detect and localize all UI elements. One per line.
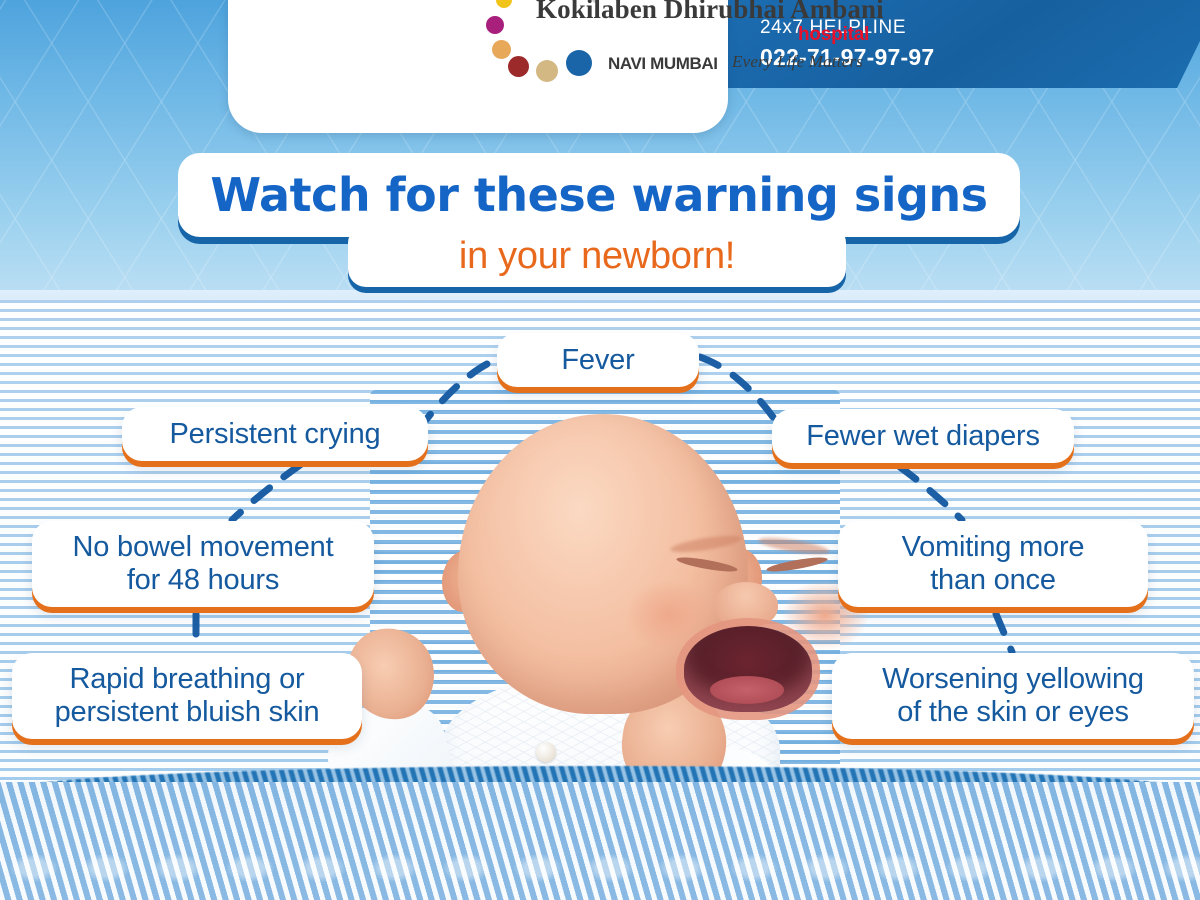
callout-label-line1: Vomiting more xyxy=(902,531,1085,563)
callout-label-line2: for 48 hours xyxy=(127,564,279,596)
callout-label-line2: persistent bluish skin xyxy=(55,696,320,728)
baby-eye-left xyxy=(676,555,739,575)
callout-label: Persistent crying xyxy=(170,418,381,451)
headline-card-secondary: in your newborn! xyxy=(348,225,846,287)
cardigan-button xyxy=(536,742,556,762)
logo-panel: Kokilaben Dhirubhai Ambani hospital NAVI… xyxy=(228,0,728,133)
callout-card-vomiting-more-than-once[interactable]: Vomiting more than once xyxy=(838,521,1148,607)
baby-tongue xyxy=(710,676,784,704)
headline-line-2: in your newborn! xyxy=(459,235,735,278)
callout-label-line1: Rapid breathing or xyxy=(69,663,304,695)
logo-hospital-name: Kokilaben Dhirubhai Ambani xyxy=(536,0,884,25)
infographic-poster: 24x7 HELPLINE 022-71-97-97-97 Kokilaben … xyxy=(0,0,1200,900)
headline-line-1: Watch for these warning signs xyxy=(210,168,987,222)
callout-label-line1: Worsening yellowing xyxy=(882,663,1144,695)
callout-label: Rapid breathing or persistent bluish ski… xyxy=(55,663,320,729)
callout-label-line2: than once xyxy=(930,564,1056,596)
logo-city: NAVI MUMBAI xyxy=(608,54,718,74)
callout-card-worsening-yellowing[interactable]: Worsening yellowing of the skin or eyes xyxy=(832,653,1194,739)
blanket-cable-pattern xyxy=(0,840,1200,898)
callout-label: Worsening yellowing of the skin or eyes xyxy=(882,663,1144,729)
callout-label: No bowel movement for 48 hours xyxy=(73,531,334,597)
callout-label: Vomiting more than once xyxy=(902,531,1085,597)
callout-card-persistent-crying[interactable]: Persistent crying xyxy=(122,407,428,461)
baby-nose xyxy=(714,582,778,628)
callout-card-fewer-wet-diapers[interactable]: Fewer wet diapers xyxy=(772,409,1074,463)
callout-card-fever[interactable]: Fever xyxy=(497,333,699,387)
logo-word-hospital: hospital xyxy=(798,24,869,46)
callout-card-no-bowel-movement[interactable]: No bowel movement for 48 hours xyxy=(32,521,374,607)
callout-label-line2: of the skin or eyes xyxy=(897,696,1129,728)
baby-brow-left xyxy=(670,532,743,555)
callout-label: Fever xyxy=(561,344,634,377)
logo-tagline: Every Life Matters xyxy=(732,52,863,72)
callout-label-line1: No bowel movement xyxy=(73,531,334,563)
callout-label: Fewer wet diapers xyxy=(806,420,1040,453)
callout-card-rapid-breathing[interactable]: Rapid breathing or persistent bluish ski… xyxy=(12,653,362,739)
hospital-logo[interactable]: Kokilaben Dhirubhai Ambani hospital NAVI… xyxy=(478,0,938,82)
